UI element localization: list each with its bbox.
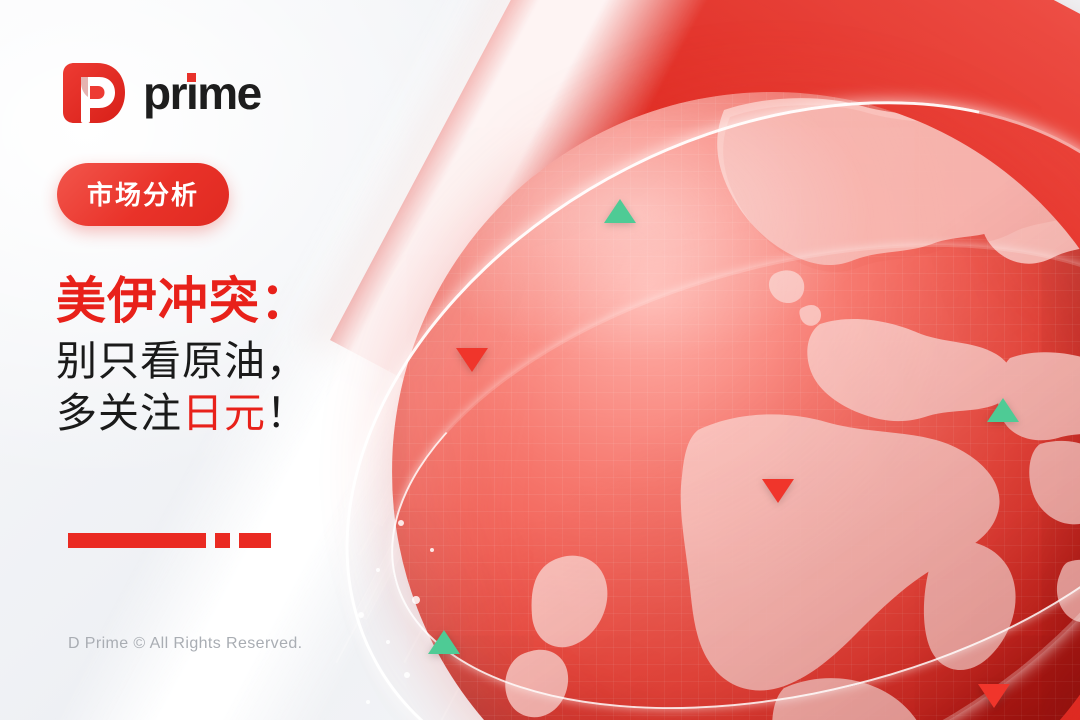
decorative-divider: [68, 533, 271, 548]
marker-up-east-icon: [987, 398, 1019, 422]
headline-line-1: 美伊冲突：: [56, 272, 311, 331]
globe-specular-highlight: [392, 92, 1080, 720]
category-badge[interactable]: 市场分析: [57, 163, 229, 226]
sparkle-dot-icon: [430, 548, 434, 552]
banner-root: prime 市场分析 美伊冲突： 别只看原油， 多关注日元！ D Prime ©…: [0, 0, 1080, 720]
headline-line-3-lead: 多关注: [56, 390, 182, 436]
divider-segment-long: [68, 533, 206, 548]
headline-line-3-tail: ！: [266, 390, 308, 436]
headline-line-2: 别只看原油，: [56, 337, 311, 385]
globe-graphic: [392, 92, 1080, 720]
brand-wordmark: prime: [143, 70, 261, 116]
headline-line-3: 多关注日元！: [56, 389, 311, 437]
divider-segment-dot: [215, 533, 230, 548]
wordmark-accent-dot-icon: [187, 73, 196, 82]
marker-down-west-icon: [456, 348, 488, 372]
globe-sphere: [392, 92, 1080, 720]
brand-logo[interactable]: prime: [57, 57, 261, 129]
page-title: 美伊冲突： 别只看原油， 多关注日元！: [56, 272, 311, 438]
marker-up-southwest-icon: [428, 630, 460, 654]
d-prime-logo-icon: [57, 57, 129, 129]
marker-down-southeast-icon: [978, 684, 1010, 708]
marker-up-north-icon: [604, 199, 636, 223]
divider-segment-mid: [239, 533, 271, 548]
headline-line-3-accent: 日元: [182, 390, 266, 436]
category-badge-label: 市场分析: [87, 180, 199, 210]
content-column: prime 市场分析 美伊冲突： 别只看原油， 多关注日元！ D Prime ©…: [0, 0, 420, 720]
copyright-text: D Prime © All Rights Reserved.: [68, 635, 303, 653]
brand-wordmark-text: prime: [143, 67, 261, 119]
marker-down-central-icon: [762, 479, 794, 503]
